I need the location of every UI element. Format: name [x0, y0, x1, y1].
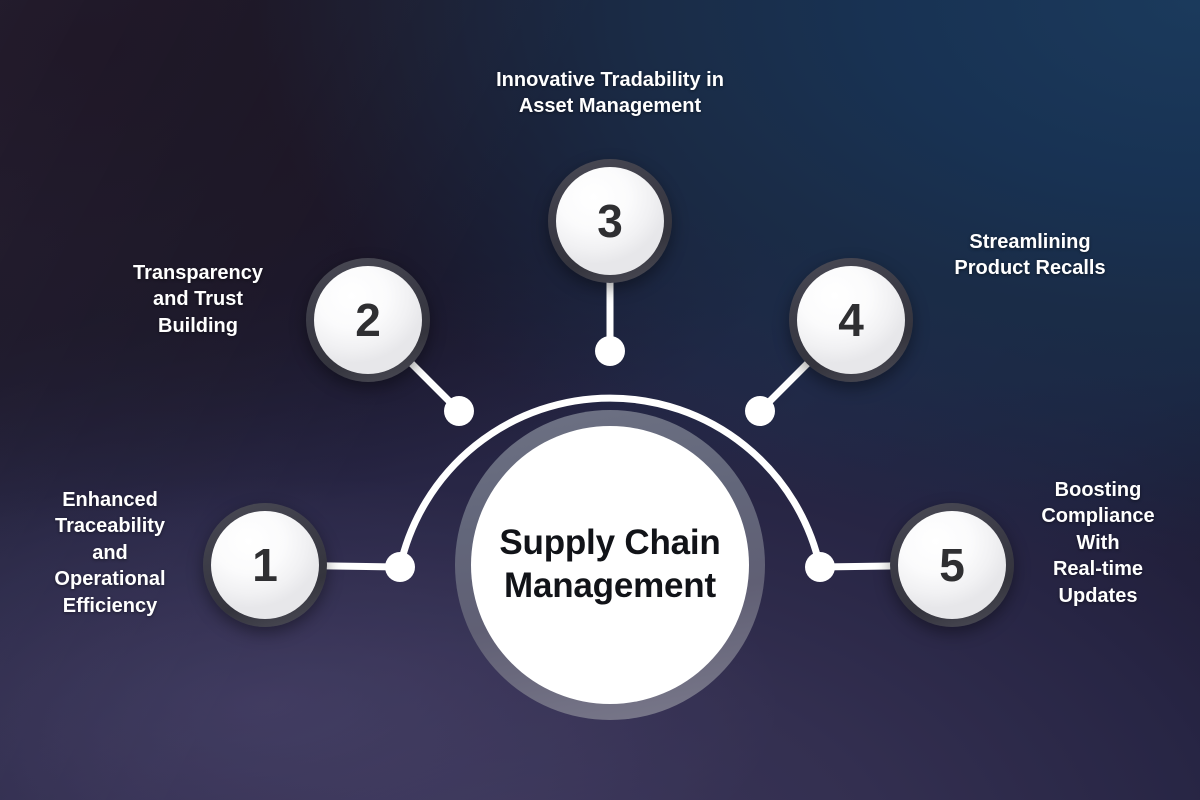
step-label-5: Boosting Compliance With Real-time Updat…: [1000, 477, 1196, 609]
step-node-3[interactable]: 3: [548, 159, 672, 283]
step-node-3-inner: 3: [556, 167, 664, 275]
step-node-2[interactable]: 2: [306, 258, 430, 382]
step-node-4-inner: 4: [797, 266, 905, 374]
step-label-4: Streamlining Product Recalls: [910, 229, 1150, 282]
infographic-canvas: Supply Chain Management 1 Enhanced Trace…: [0, 0, 1200, 800]
step-number-1: 1: [252, 542, 278, 588]
step-label-3: Innovative Tradability in Asset Manageme…: [415, 67, 805, 120]
step-label-2: Transparency and Trust Building: [78, 260, 318, 339]
connector-dot-4: [745, 396, 775, 426]
step-node-5[interactable]: 5: [890, 503, 1014, 627]
connector-dot-2: [444, 396, 474, 426]
connector-dot-1: [385, 552, 415, 582]
central-hub-inner: Supply Chain Management: [471, 426, 749, 704]
step-number-3: 3: [597, 198, 623, 244]
step-number-4: 4: [838, 297, 864, 343]
page-title: Supply Chain Management: [487, 522, 732, 607]
step-node-4[interactable]: 4: [789, 258, 913, 382]
step-node-1[interactable]: 1: [203, 503, 327, 627]
connector-dot-5: [805, 552, 835, 582]
central-hub[interactable]: Supply Chain Management: [455, 410, 765, 720]
step-number-2: 2: [355, 297, 381, 343]
step-node-2-inner: 2: [314, 266, 422, 374]
connector-dot-3: [595, 336, 625, 366]
step-label-1: Enhanced Traceability and Operational Ef…: [10, 487, 210, 619]
step-number-5: 5: [939, 542, 965, 588]
step-node-5-inner: 5: [898, 511, 1006, 619]
step-node-1-inner: 1: [211, 511, 319, 619]
